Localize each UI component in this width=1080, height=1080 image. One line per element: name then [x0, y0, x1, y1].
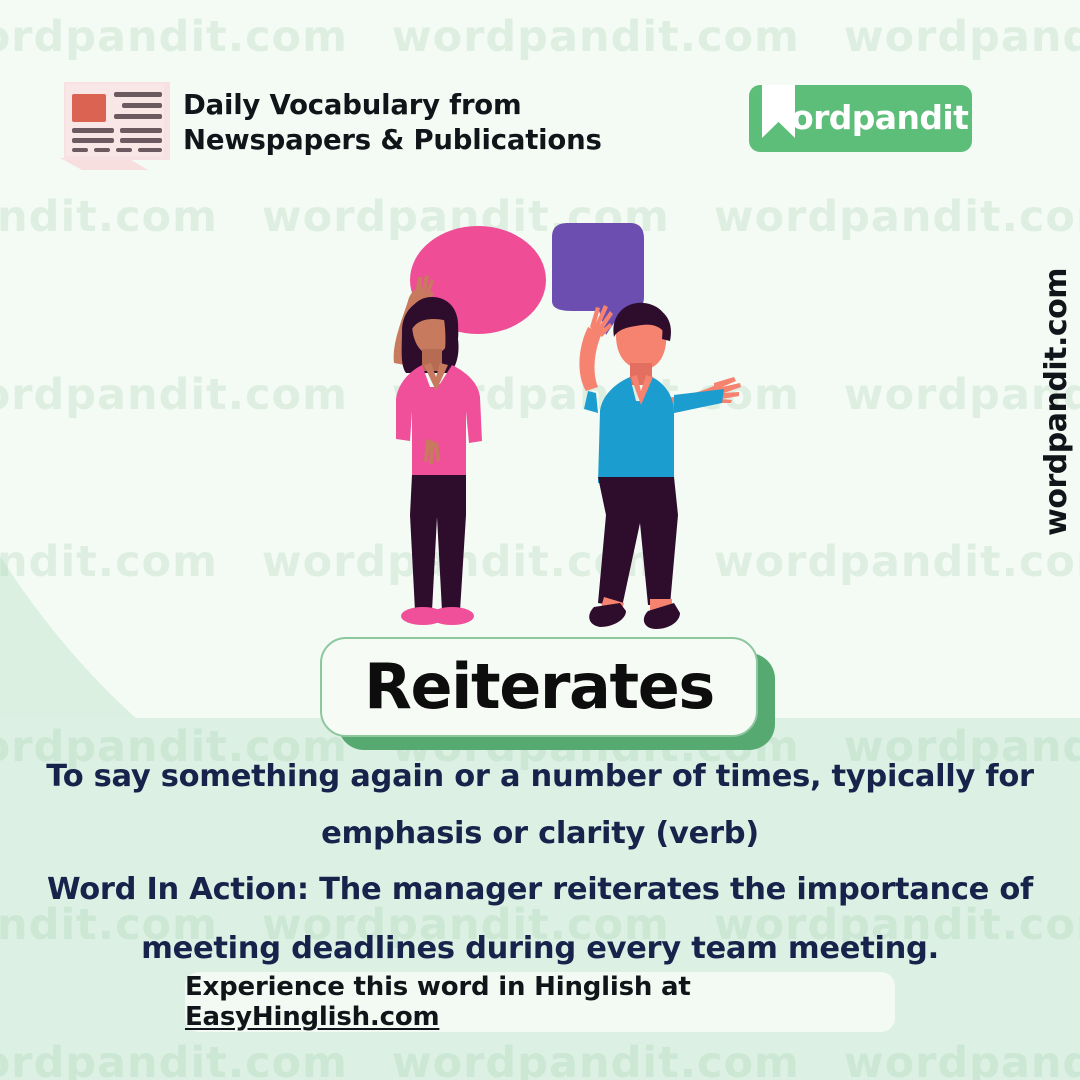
poster-canvas: wordpandit.comwordpandit.comwordpandit.c…	[0, 0, 1080, 1080]
easyhinglish-link[interactable]: EasyHinglish.com	[185, 1002, 439, 1032]
brand-title-line-2: Newspapers & Publications	[183, 123, 602, 158]
word-in-action-text: Word In Action: The manager reiterates t…	[30, 860, 1050, 979]
footer-text: Experience this word in Hinglish at Easy…	[185, 972, 895, 1032]
watermark-row: wordpandit.comwordpandit.comwordpandit.c…	[0, 1038, 1080, 1080]
man-figure	[579, 303, 741, 629]
definition-line-2: emphasis or clarity (verb)	[30, 805, 1050, 862]
wordpandit-logo[interactable]: ordpandit	[749, 85, 972, 152]
logo-text: ordpandit	[791, 98, 968, 137]
vocabulary-word: Reiterates	[364, 656, 714, 718]
side-watermark-text: wordpandit.com	[1039, 268, 1074, 536]
word-card-body: Reiterates	[320, 637, 758, 737]
header: Daily Vocabulary from Newspapers & Publi…	[0, 0, 1080, 190]
definition-line-1: To say something again or a number of ti…	[30, 748, 1050, 805]
page-title: Daily Vocabulary from Newspapers & Publi…	[183, 88, 602, 158]
footer-prefix: Experience this word in Hinglish at	[185, 972, 691, 1002]
newspaper-icon	[52, 72, 178, 176]
word-in-action-line-1: Word In Action: The manager reiterates t…	[30, 860, 1050, 919]
definition-text: To say something again or a number of ti…	[30, 748, 1050, 863]
illustration-two-people-speech-bubbles	[330, 215, 830, 645]
word-in-action-line-2: meeting deadlines during every team meet…	[30, 919, 1050, 978]
brand-title-line-1: Daily Vocabulary from	[183, 88, 602, 123]
word-card: Reiterates	[320, 637, 776, 752]
hinglish-cta-bar[interactable]: Experience this word in Hinglish at Easy…	[185, 972, 895, 1032]
